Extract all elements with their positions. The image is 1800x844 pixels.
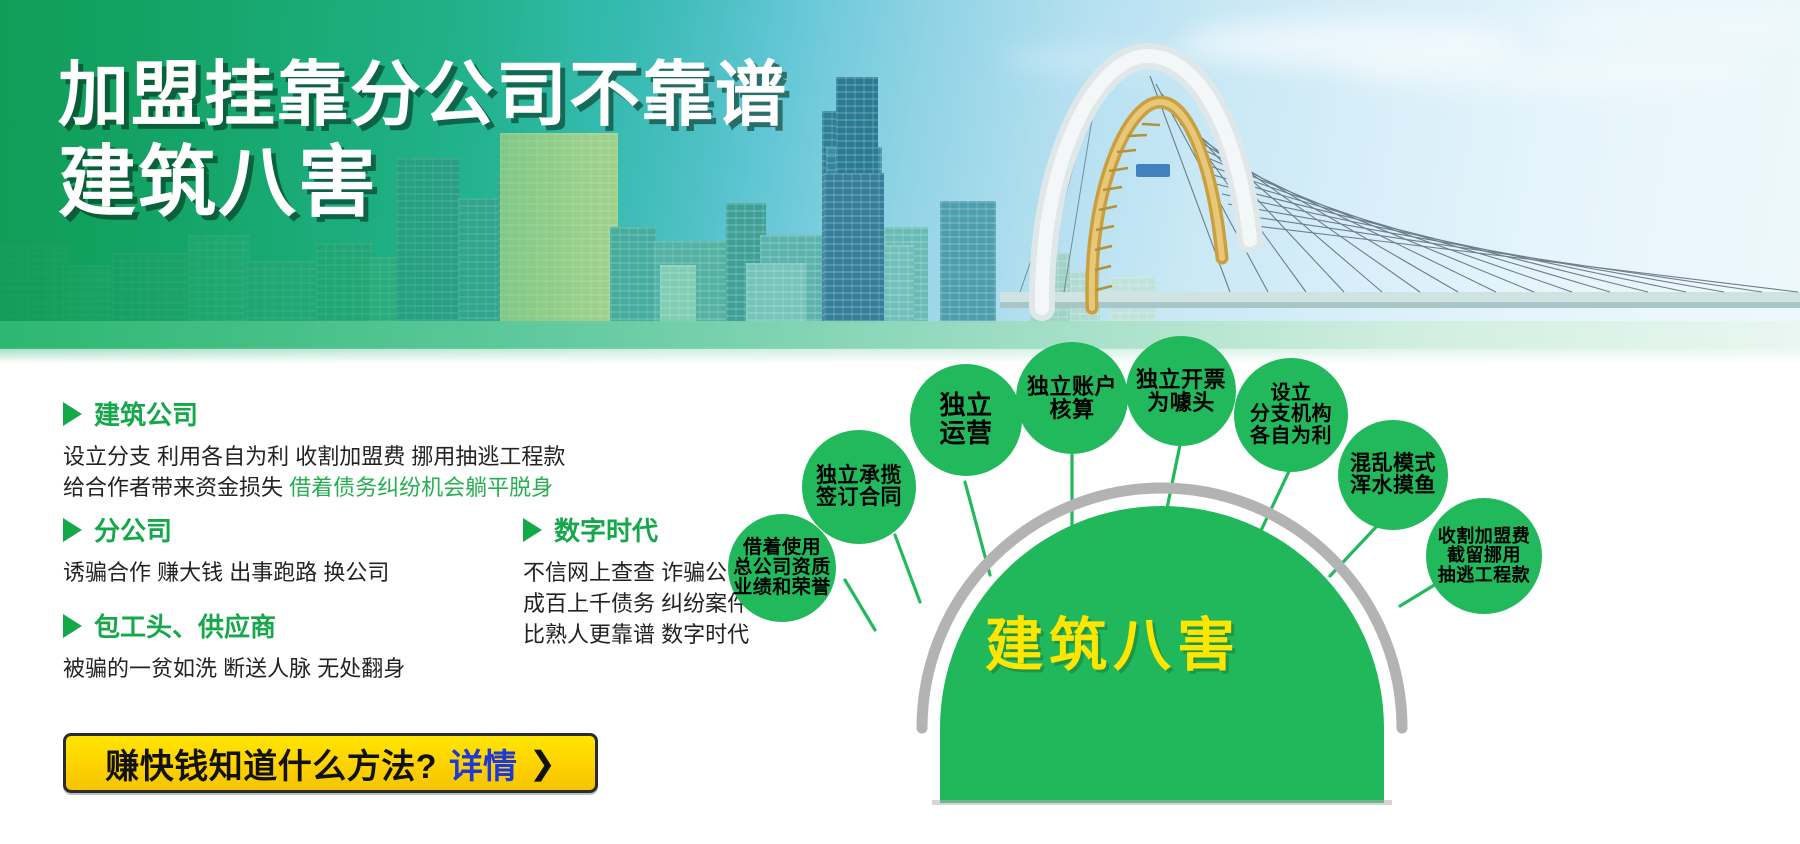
bubble-line: 业绩和荣誉 — [733, 577, 831, 598]
bubble-line: 运营 — [939, 418, 992, 448]
bubble-diagram: 建筑八害 借着使用 总公司资质 业绩和荣誉 独立承揽 签订合同 独立 运营 独立… — [800, 330, 1800, 844]
section-body-contractor-supplier: 被骗的一贫如洗 断送人脉 无处翻身 — [63, 653, 405, 684]
section-heading-label: 建筑公司 — [94, 395, 198, 432]
body-text-green: 借着债务纠纷机会躺平脱身 — [289, 475, 553, 500]
body-text-black: 被骗的一贫如洗 断送人脉 无处翻身 — [63, 656, 405, 681]
body-text-black: 设立分支 利用各自为利 收割加盟费 挪用抽逃工程款 — [63, 444, 565, 469]
bubble-line: 混乱模式 — [1350, 452, 1436, 475]
bubble-branch-setup[interactable]: 设立 分支机构 各自为利 — [1234, 358, 1348, 472]
bubble-independent-invoicing[interactable]: 独立开票 为噱头 — [1126, 336, 1236, 446]
bubble-line: 抽逃工程款 — [1438, 565, 1531, 585]
hero-title-line1: 加盟挂靠分公司不靠谱 — [58, 58, 788, 133]
section-heading-label: 包工头、供应商 — [94, 607, 276, 644]
bridge-illustration — [1000, 40, 1800, 340]
bubble-line: 独立账户 — [1027, 374, 1117, 399]
hero-title-group: 加盟挂靠分公司不靠谱 建筑八害 — [58, 58, 788, 224]
bubble-line: 核算 — [1049, 397, 1094, 422]
triangle-bullet-icon — [523, 518, 542, 542]
section-body-branch-company: 诱骗合作 赚大钱 出事跑路 换公司 — [63, 557, 389, 588]
bubble-borrowed-credentials[interactable]: 借着使用 总公司资质 业绩和荣誉 — [728, 514, 836, 622]
hero-title-line2: 建筑八害 — [58, 141, 788, 224]
bubble-chaotic-model[interactable]: 混乱模式 浑水摸鱼 — [1338, 420, 1448, 530]
bubble-line: 浑水摸鱼 — [1350, 474, 1436, 497]
bubble-line: 截留挪用 — [1447, 545, 1521, 565]
section-heading-contractor-supplier: 包工头、供应商 — [63, 607, 276, 644]
triangle-bullet-icon — [63, 614, 82, 638]
bubble-franchise-fee-skimming[interactable]: 收割加盟费 截留挪用 抽逃工程款 — [1426, 498, 1542, 614]
triangle-bullet-icon — [63, 518, 82, 542]
section-body-line: 设立分支 利用各自为利 收割加盟费 挪用抽逃工程款 — [63, 441, 565, 472]
body-text-black: 不信网上查查 诈骗公司 — [523, 560, 749, 585]
body-text-black: 比熟人更靠谱 数字时代 — [523, 622, 749, 647]
dome-center-label: 建筑八害 — [985, 598, 1241, 682]
bubble-line: 为噱头 — [1147, 390, 1215, 415]
bubble-independent-operation[interactable]: 独立 运营 — [910, 364, 1022, 476]
bubble-line: 借着使用 — [743, 537, 821, 558]
section-heading-label: 分公司 — [94, 511, 172, 548]
body-text-black: 诱骗合作 赚大钱 出事跑路 换公司 — [63, 560, 389, 585]
triangle-bullet-icon — [63, 402, 82, 426]
bubble-independent-contracting[interactable]: 独立承揽 签订合同 — [802, 430, 916, 544]
bubble-line: 分支机构 — [1250, 403, 1332, 425]
bubble-independent-accounting[interactable]: 独立账户 核算 — [1016, 342, 1128, 454]
bubble-line: 签订合同 — [816, 486, 902, 509]
section-body-line: 成百上千债务 纠纷案件 — [523, 588, 749, 619]
section-body-line: 不信网上查查 诈骗公司 — [523, 557, 749, 588]
cta-button[interactable]: 赚快钱知道什么方法? 详情 ❯ — [63, 733, 598, 793]
section-body-line: 比熟人更靠谱 数字时代 — [523, 619, 749, 650]
section-heading-branch-company: 分公司 — [63, 511, 172, 548]
chevron-right-icon: ❯ — [529, 747, 556, 779]
section-body-construction-company: 设立分支 利用各自为利 收割加盟费 挪用抽逃工程款 给合作者带来资金损失 借着债… — [63, 441, 565, 503]
section-body-digital-era: 不信网上查查 诈骗公司 成百上千债务 纠纷案件 比熟人更靠谱 数字时代 — [523, 557, 749, 650]
bubble-line: 设立 — [1271, 382, 1312, 404]
section-body-line: 诱骗合作 赚大钱 出事跑路 换公司 — [63, 557, 389, 588]
section-heading-digital-era: 数字时代 — [523, 511, 658, 548]
body-text-black: 给合作者带来资金损失 — [63, 475, 289, 500]
bubble-line: 各自为利 — [1250, 425, 1332, 447]
cta-detail-link[interactable]: 详情 — [449, 739, 517, 788]
hero-banner: 加盟挂靠分公司不靠谱 建筑八害 — [0, 0, 1800, 365]
body-text-black: 成百上千债务 纠纷案件 — [523, 591, 749, 616]
section-heading-label: 数字时代 — [554, 511, 658, 548]
bubble-line: 总公司资质 — [733, 557, 831, 578]
poster-root: 加盟挂靠分公司不靠谱 建筑八害 建筑公司 设立分支 利用各自为利 收割加盟费 挪… — [0, 0, 1800, 844]
section-body-line: 给合作者带来资金损失 借着债务纠纷机会躺平脱身 — [63, 472, 565, 503]
bubble-line: 独立 — [939, 390, 992, 420]
bubble-line: 独立承揽 — [816, 464, 902, 487]
section-body-line: 被骗的一贫如洗 断送人脉 无处翻身 — [63, 653, 405, 684]
section-heading-construction-company: 建筑公司 — [63, 395, 198, 432]
bubble-line: 收割加盟费 — [1438, 526, 1531, 546]
cta-main-label: 赚快钱知道什么方法? — [105, 739, 437, 788]
bubble-line: 独立开票 — [1136, 367, 1226, 392]
